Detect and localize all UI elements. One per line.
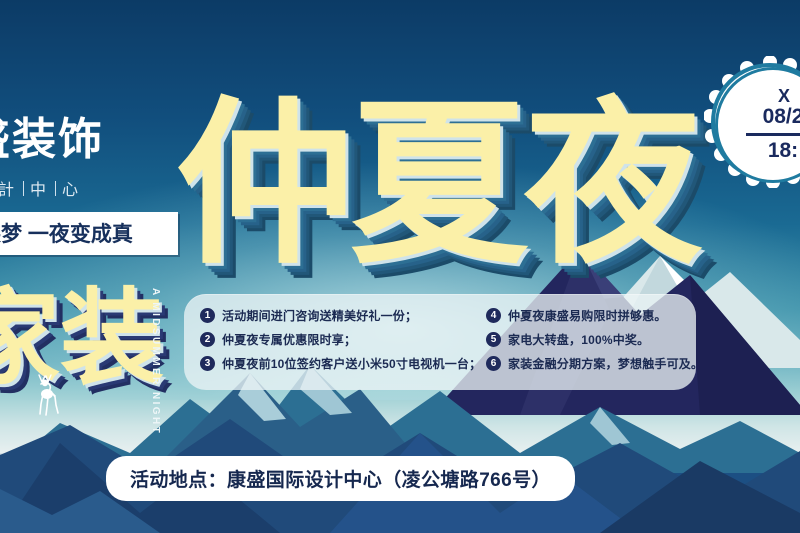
list-number-badge: 6	[486, 356, 501, 371]
list-item: 6 家装金融分期方案，梦想触手可及。	[486, 355, 696, 372]
headline-secondary: 家装	[0, 286, 164, 390]
brand-sub-divider	[23, 181, 24, 196]
date-badge: X 08/2 18:	[704, 56, 800, 188]
list-item-text: 仲夏夜前10位签约客户送小米50寸电视机一台；	[222, 355, 481, 372]
list-item-text: 仲夏夜康盛易购限时拼够惠。	[508, 307, 667, 324]
list-item-text: 家装金融分期方案，梦想触手可及。	[508, 355, 703, 372]
list-item: 4 仲夏夜康盛易购限时拼够惠。	[486, 307, 696, 324]
brand-sub-char-2: 計	[0, 176, 17, 200]
offers-column-right: 4 仲夏夜康盛易购限时拼够惠。 5 家电大转盘，100%中奖。 6 家装金融分期…	[486, 307, 696, 390]
list-number-badge: 4	[486, 308, 501, 323]
list-item-text: 仲夏夜专属优惠限时享；	[222, 331, 356, 348]
headline-main: 仲夏夜	[176, 96, 698, 274]
list-number-badge: 2	[200, 332, 215, 347]
event-address-pill: 活动地点：康盛国际设计中心（凌公塘路766号）	[106, 456, 575, 501]
event-address-text: 活动地点：康盛国际设计中心（凌公塘路766号）	[130, 470, 551, 491]
vertical-english-label: A MIDSUMMER NIGHT	[150, 288, 161, 435]
list-item-text: 家电大转盘，100%中奖。	[508, 331, 649, 348]
brand-name: 盛装饰	[0, 118, 196, 162]
badge-time: 18:	[748, 139, 798, 163]
list-number-badge: 5	[486, 332, 501, 347]
brand-subtitle: 設 計 中 心	[0, 176, 196, 200]
poster-canvas: 盛装饰 設 計 中 心 装梦 一夜变成真 仲夏夜 家装 A MIDSUMMER …	[0, 0, 800, 533]
offers-column-left: 1 活动期间进门咨询送精美好礼一份； 2 仲夏夜专属优惠限时享； 3 仲夏夜前1…	[200, 307, 486, 390]
offers-columns: 1 活动期间进门咨询送精美好礼一份； 2 仲夏夜专属优惠限时享； 3 仲夏夜前1…	[184, 294, 696, 390]
brand-sub-char-4: 心	[62, 176, 81, 200]
list-number-badge: 3	[200, 356, 215, 371]
list-item: 2 仲夏夜专属优惠限时享；	[200, 331, 486, 348]
badge-date: 08/2	[743, 105, 800, 129]
list-item: 1 活动期间进门咨询送精美好礼一份；	[200, 307, 486, 324]
list-item: 5 家电大转盘，100%中奖。	[486, 331, 696, 348]
list-number-badge: 1	[200, 308, 215, 323]
badge-divider	[746, 133, 800, 136]
brand-tagline: 装梦 一夜变成真	[0, 212, 178, 255]
badge-top-label: X	[756, 87, 790, 105]
brand-logo-block: 盛装饰 設 計 中 心 装梦 一夜变成真	[0, 118, 196, 255]
list-item: 3 仲夏夜前10位签约客户送小米50寸电视机一台；	[200, 355, 486, 372]
brand-sub-divider	[55, 181, 56, 196]
offers-panel: 1 活动期间进门咨询送精美好礼一份； 2 仲夏夜专属优惠限时享； 3 仲夏夜前1…	[184, 294, 696, 390]
deer-icon	[28, 372, 64, 418]
list-item-text: 活动期间进门咨询送精美好礼一份；	[222, 307, 417, 324]
brand-sub-char-3: 中	[30, 176, 49, 200]
